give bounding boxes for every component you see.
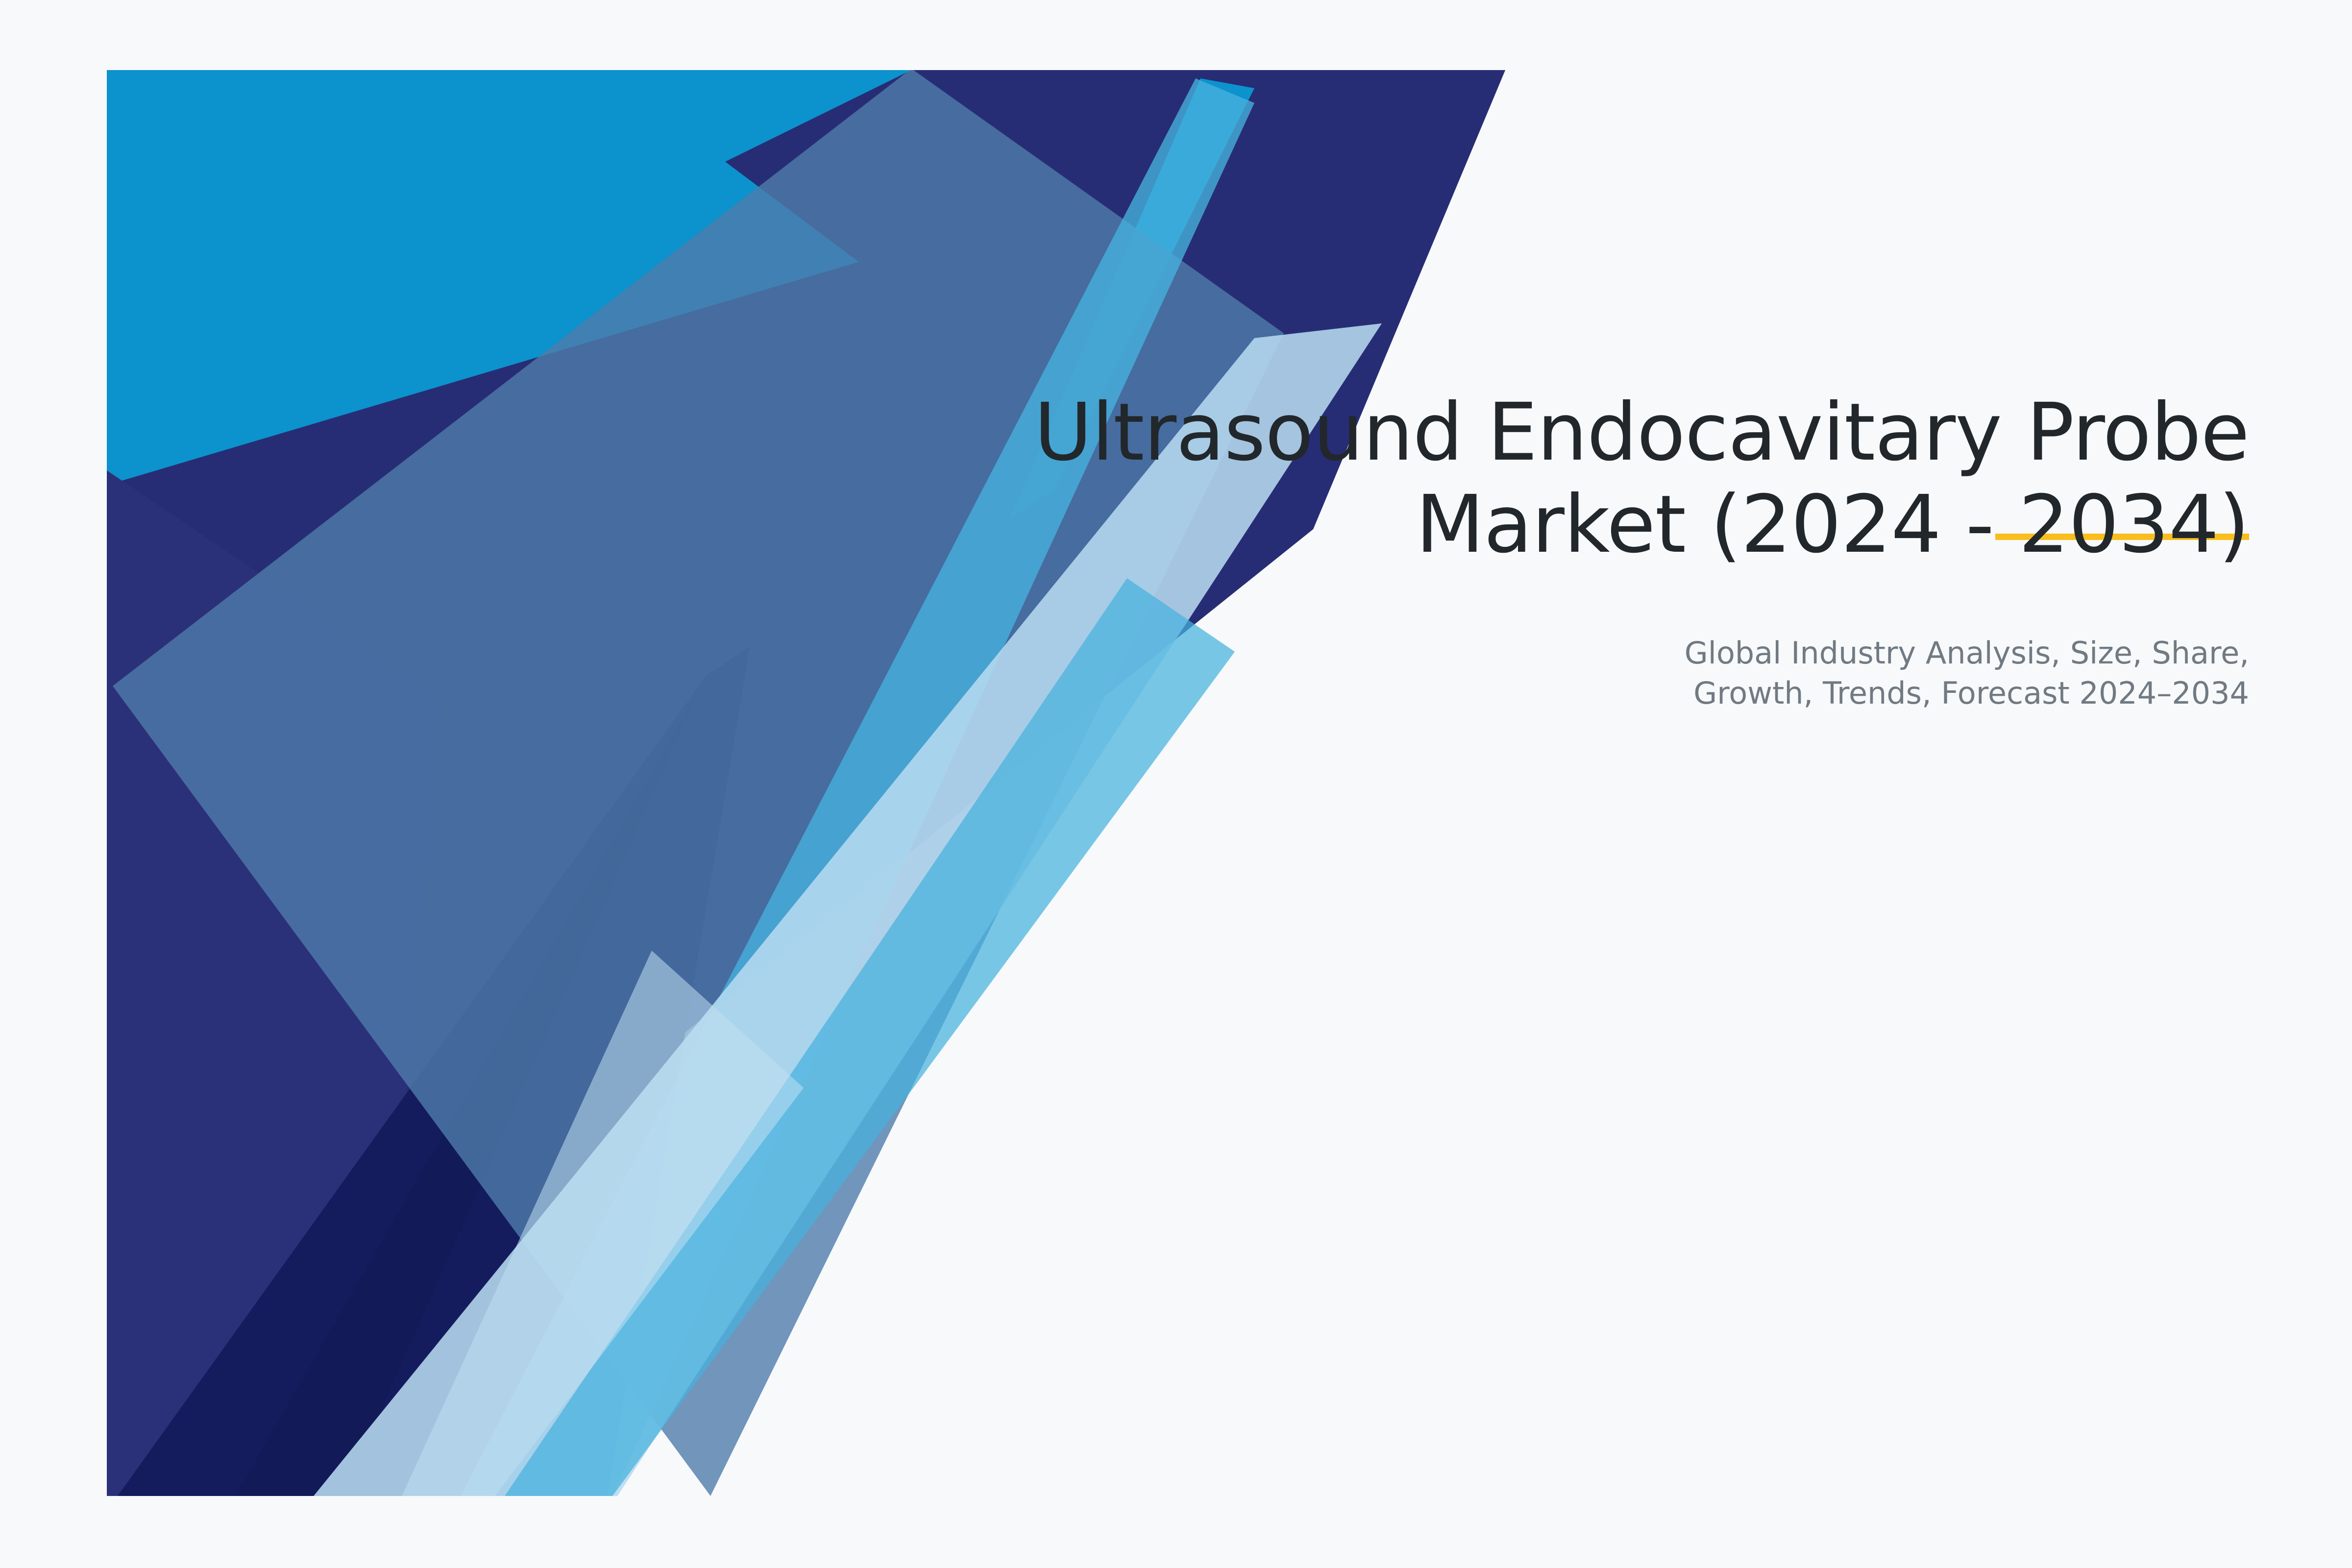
page-title: Ultrasound Endocavitary Probe Market (20… [975,387,2249,571]
report-cover: Ultrasound Endocavitary Probe Market (20… [0,0,2352,1568]
page-title-line-2: Market (2024 - 2034) [1416,479,2249,571]
abstract-shapes-svg [0,0,2352,1568]
page-title-line-1: Ultrasound Endocavitary Probe [1034,387,2249,479]
cover-title-block: Ultrasound Endocavitary Probe Market (20… [975,387,2249,714]
page-subtitle-line-1: Global Industry Analysis, Size, Share, [1685,635,2249,671]
page-subtitle: Global Industry Analysis, Size, Share, G… [975,633,2249,714]
cover-artwork [0,0,2352,1568]
page-subtitle-line-2: Growth, Trends, Forecast 2024–2034 [1693,675,2249,711]
